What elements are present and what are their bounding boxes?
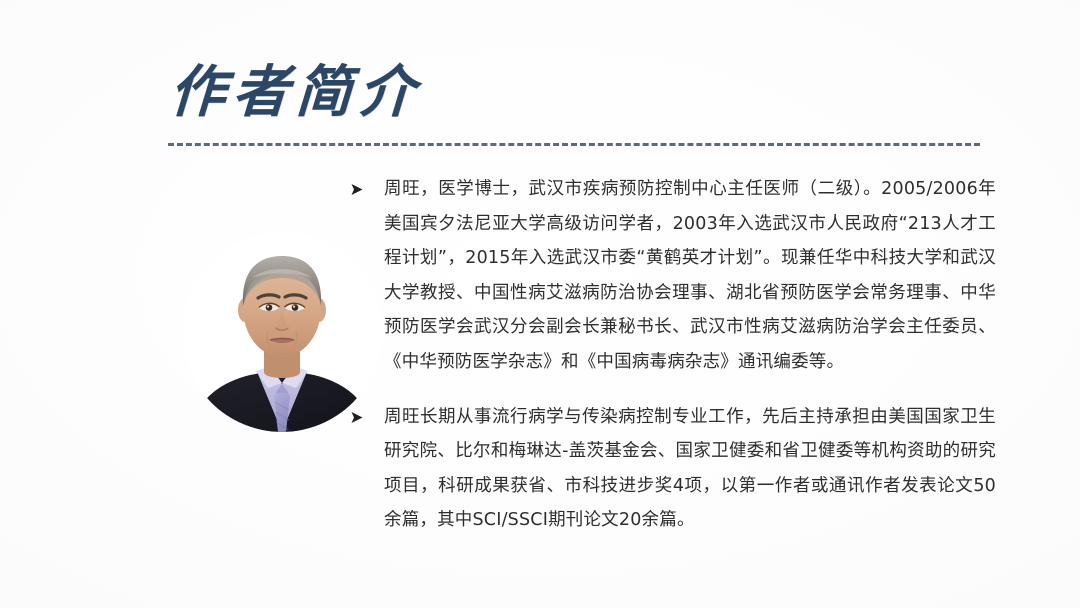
slide-root: 作者简介 [0,0,1080,608]
bio-paragraph-1: 周旺，医学博士，武汉市疾病预防控制中心主任医师（二级）。2005/2006年美国… [348,172,996,380]
bio-paragraph-2-text: 周旺长期从事流行病学与传染病控制专业工作，先后主持承担由美国国家卫生研究院、比尔… [384,400,996,538]
page-title: 作者简介 [168,62,991,122]
bio-content: 周旺，医学博士，武汉市疾病预防控制中心主任医师（二级）。2005/2006年美国… [348,172,996,538]
arrowhead-bullet-icon [350,400,374,435]
bio-paragraph-2: 周旺长期从事流行病学与传染病控制专业工作，先后主持承担由美国国家卫生研究院、比尔… [348,400,996,538]
bio-paragraph-1-text: 周旺，医学博士，武汉市疾病预防控制中心主任医师（二级）。2005/2006年美国… [384,172,996,380]
title-divider [168,143,980,146]
title-block: 作者简介 [168,62,988,122]
arrowhead-bullet-icon [350,172,374,207]
